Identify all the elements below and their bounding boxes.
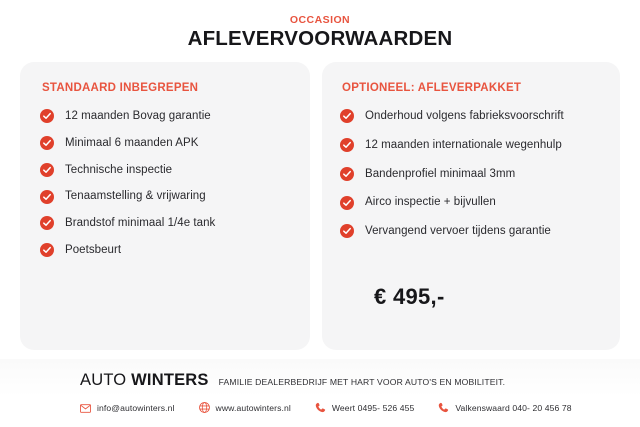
price-block: € 495,- [340,286,604,334]
card-standard-included: STANDAARD INBEGREPEN 12 maanden Bovag ga… [20,62,310,350]
contact-phone-valkenswaard[interactable]: Valkenswaard 040- 20 456 78 [438,400,571,418]
list-item: Bandenprofiel minimaal 3mm [340,167,604,181]
list-item: Tenaamstelling & vrijwaring [40,189,294,203]
check-circle-icon [40,163,54,177]
brand-name-bold: WINTERS [131,371,208,389]
globe-icon [199,400,210,418]
footer-contact-row: info@autowinters.nl www.autowinters.nl [80,400,640,418]
list-item-label: Vervangend vervoer tijdens garantie [365,224,551,238]
list-item-label: Technische inspectie [65,163,172,177]
footer-brand-row: AUTO WINTERS FAMILIE DEALERBEDRIJF MET H… [80,372,640,389]
contact-email-label: info@autowinters.nl [97,404,175,413]
list-item: 12 maanden internationale wegenhulp [340,138,604,152]
list-item: Minimaal 6 maanden APK [40,136,294,150]
envelope-icon [80,400,91,418]
check-circle-icon [40,243,54,257]
standard-feature-list: 12 maanden Bovag garantie Minimaal 6 maa… [40,109,294,270]
list-item-label: Brandstof minimaal 1/4e tank [65,216,215,230]
card-standard-title: STANDAARD INBEGREPEN [42,82,294,96]
card-optional-title: OPTIONEEL: AFLEVERPAKKET [342,82,604,96]
check-circle-icon [340,196,354,210]
list-item: 12 maanden Bovag garantie [40,109,294,123]
brand-tagline: FAMILIE DEALERBEDRIJF MET HART VOOR AUTO… [219,378,506,387]
package-price: € 495,- [374,286,604,308]
contact-website-label: www.autowinters.nl [216,404,291,413]
contact-phone-weert[interactable]: Weert 0495- 526 455 [315,400,414,418]
list-item-label: 12 maanden Bovag garantie [65,109,211,123]
list-item-label: Airco inspectie + bijvullen [365,195,496,209]
list-item-label: Onderhoud volgens fabrieksvoorschrift [365,109,564,123]
brand-name-light: AUTO [80,371,126,389]
check-circle-icon [340,167,354,181]
contact-phone-valkenswaard-label: Valkenswaard 040- 20 456 78 [455,404,571,413]
optional-feature-list: Onderhoud volgens fabrieksvoorschrift 12… [340,109,604,253]
delivery-conditions-page: OCCASION AFLEVERVOORWAARDEN STANDAARD IN… [0,0,640,427]
contact-website[interactable]: www.autowinters.nl [199,400,291,418]
check-circle-icon [40,190,54,204]
list-item-label: Bandenprofiel minimaal 3mm [365,167,515,181]
phone-icon [315,400,326,418]
check-circle-icon [40,136,54,150]
card-optional-package: OPTIONEEL: AFLEVERPAKKET Onderhoud volge… [322,62,620,350]
contact-email[interactable]: info@autowinters.nl [80,400,175,418]
list-item-label: Minimaal 6 maanden APK [65,136,198,150]
page-eyebrow: OCCASION [0,14,640,26]
list-item: Brandstof minimaal 1/4e tank [40,216,294,230]
cards-container: STANDAARD INBEGREPEN 12 maanden Bovag ga… [20,62,620,350]
list-item: Technische inspectie [40,163,294,177]
check-circle-icon [340,138,354,152]
page-footer: AUTO WINTERS FAMILIE DEALERBEDRIJF MET H… [0,359,640,427]
page-header: OCCASION AFLEVERVOORWAARDEN [0,0,640,51]
list-item: Vervangend vervoer tijdens garantie [340,224,604,238]
list-item-label: 12 maanden internationale wegenhulp [365,138,562,152]
phone-icon [438,400,449,418]
check-circle-icon [40,109,54,123]
list-item: Poetsbeurt [40,243,294,257]
brand-logo: AUTO WINTERS [80,372,209,389]
page-title: AFLEVERVOORWAARDEN [0,27,640,51]
list-item-label: Tenaamstelling & vrijwaring [65,189,206,203]
list-item-label: Poetsbeurt [65,243,121,257]
list-item: Onderhoud volgens fabrieksvoorschrift [340,109,604,123]
check-circle-icon [340,109,354,123]
list-item: Airco inspectie + bijvullen [340,195,604,209]
check-circle-icon [340,224,354,238]
check-circle-icon [40,216,54,230]
contact-phone-weert-label: Weert 0495- 526 455 [332,404,414,413]
